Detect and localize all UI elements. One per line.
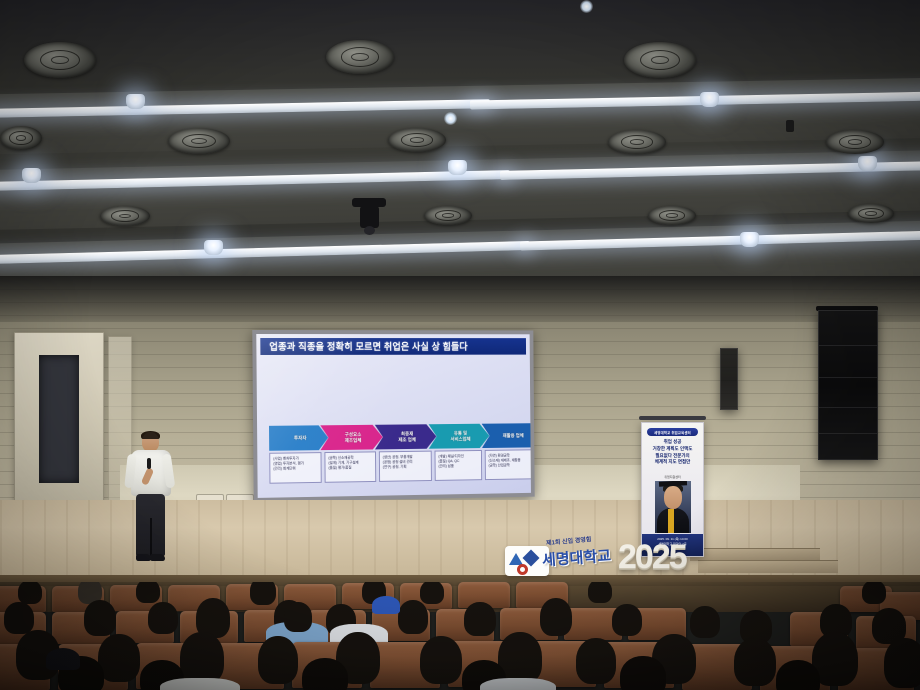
microphone-icon [147,458,151,469]
chevron-stage-1: 투자자 [269,425,328,451]
sprinkler-head [786,120,794,132]
spotlight-2 [700,92,719,107]
slide-title: 업종과 직종을 정확히 모르면 취업은 사실 상 힘들다 [260,338,526,355]
banner-ribbon: 세명대학교 취업교육센터 [647,428,698,436]
projector-lens-icon [364,226,375,235]
detail-box-4: (개발) 채널/디자인 (품질) QA, QC (관리) 납품 [435,450,483,481]
chevron-label-5: 재활용 업체 [503,433,524,439]
banner-headline: 취업 성공 거창한 계획도 인맥도 필요없다 전문가의 체계적 지도 면접만 [646,439,699,466]
portrait-face [664,486,682,509]
chevron-label-4: 유통 및 서비스업체 [450,430,470,441]
process-flow-diagram: 투자자 구성요소 제조업체 최종재 제조 업체 유통 및 서비스업체 재활용 업… [269,423,522,487]
chevron-stage-2: 구성요소 제조업체 [320,425,382,450]
spotlight-1 [126,94,145,109]
spotlight-6 [204,240,223,255]
spotlight-3 [22,168,41,183]
chevron-label-2: 구성요소 제조업체 [345,432,362,444]
presenter-head [142,432,159,452]
banner-portrait [655,481,691,533]
presenter-shoe-right [150,554,165,561]
chevron-label-1: 투자자 [294,435,307,441]
banner-pole [639,416,706,420]
detail-box-3: (생산) 공정, 부품개발 (공정) 공정 설비 관리 (연구) 공정, 기획 [379,451,432,482]
chevron-label-3: 최종재 제조 업체 [398,431,416,442]
presenter-shoe-left [136,554,151,561]
presenter-leg-split [150,518,152,556]
attendee-dark-cap [46,648,80,670]
sign-small-text: 제1회 신입 경영힘 [546,534,592,547]
detail-row: (사업) 벤처투자가 (영업) 투자분석, 평가 (관리) 회계단위 (공학) … [269,449,521,485]
spotlight-4 [448,160,467,175]
logo-circle-icon [517,564,528,575]
detail-box-1: (사업) 벤처투자가 (영업) 투자분석, 평가 (관리) 회계단위 [269,452,322,484]
ceiling-downlight-1 [580,0,593,13]
attendee-blue-cap [372,596,400,614]
speaker-secondary [720,348,738,410]
stage-step-lower [698,560,838,573]
detail-box-5: (자연) 환경공학 (신소재) 재제조, 재활용 (공학) 산업공학 [485,449,531,480]
line-array-speaker-right [818,310,878,460]
audience-area [0,582,920,690]
projection-screen: 업종과 직종을 정확히 모르면 취업은 사실 상 힘들다 투자자 구성요소 제조… [252,330,534,502]
sign-university-name: 세명대학교 [541,545,611,571]
graduation-cap-icon [659,481,687,487]
ceiling-downlight-2 [444,112,457,125]
wall-upper-shadow [0,276,920,322]
detail-box-2: (공학) 신소재공학 (설계) 기계, 기구설계 (품질) 평가/품질 [324,451,376,482]
banner-subline: 취업지원센터 [646,475,699,479]
chevron-stage-3: 최종재 제조 업체 [375,424,437,449]
presenter [120,432,180,567]
projector-body [360,206,379,228]
stage-signage: 제1회 신입 경영힘 세명대학교 2025 [500,528,690,586]
chevron-row: 투자자 구성요소 제조업체 최종재 제조 업체 유통 및 서비스업체 재활용 업… [269,423,521,450]
chevron-stage-4: 유통 및 서비스업체 [429,424,490,449]
sign-year: 2025 [618,538,686,577]
spotlight-5 [858,156,877,171]
auditorium-photo: 업종과 직종을 정확히 모르면 취업은 사실 상 힘들다 투자자 구성요소 제조… [0,0,920,690]
spotlight-7 [740,232,759,247]
presentation-slide: 업종과 직종을 정확히 모르면 취업은 사실 상 힘들다 투자자 구성요소 제조… [256,334,531,498]
